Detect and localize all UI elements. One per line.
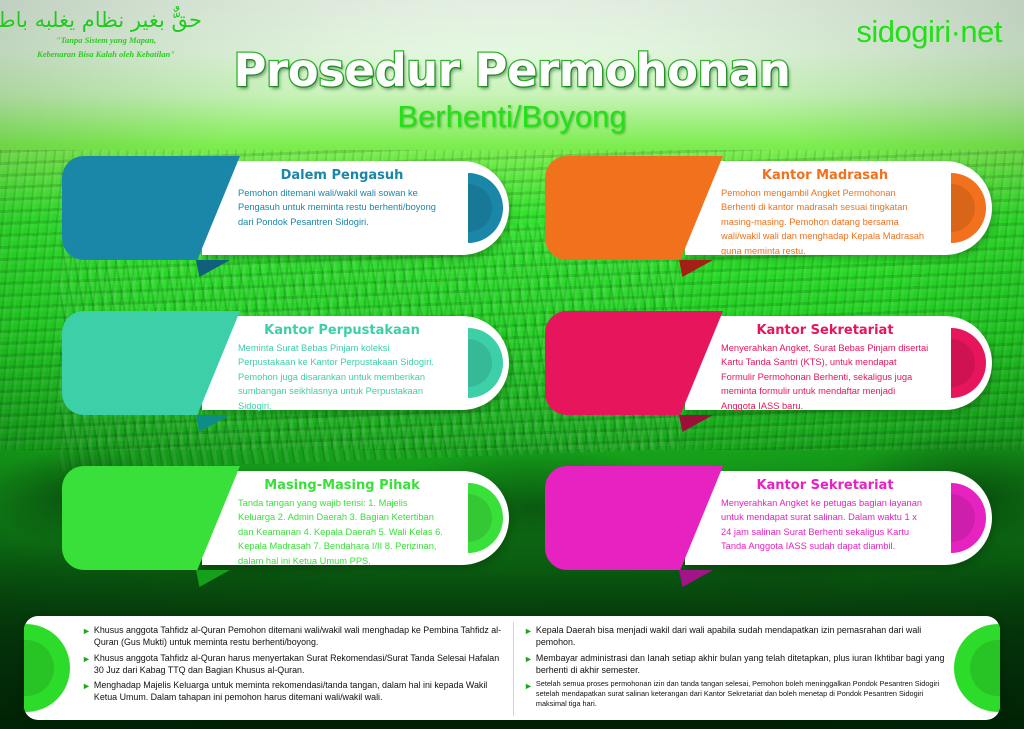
footer-notes-panel: ►Khusus anggota Tahfidz al-Quran Pemohon… [24,616,1000,720]
arrow-bullet-icon: ► [524,625,533,637]
footer-note-text: Khusus anggota Tahfidz al-Quran Pemohon … [94,624,505,649]
footer-notes-right-column: ►Kepala Daerah bisa menjadi wakil dari w… [513,622,954,716]
step-card-text-wrap: Masing-Masing PihakTanda tangan yang waj… [238,479,446,568]
arrow-bullet-icon: ► [524,653,533,665]
step-card-body: Kantor SekretariatMenyerahkan Angket, Su… [685,316,992,410]
page-subtitle: Berhenti/Boyong [0,99,1024,135]
footer-left-disc-icon [24,624,70,712]
step-card-text-wrap: Dalem PengasuhPemohon ditemani wali/waki… [238,169,446,229]
step-card-body: Kantor SekretariatMenyerahkan Angket ke … [685,471,992,565]
footer-note-text: Khusus anggota Tahfidz al-Quran harus me… [94,652,505,677]
step-card-body: Kantor PerpustakaanMeminta Surat Bebas P… [202,316,509,410]
infographic-poster: حقٌّ بغير نظام يغلبه باطل بنظام "Tanpa S… [0,0,1024,729]
step-card-body: Masing-Masing PihakTanda tangan yang waj… [202,471,509,565]
step-card-05: Masing-Masing PihakTanda tangan yang waj… [62,466,509,570]
step-card-text-wrap: Kantor PerpustakaanMeminta Surat Bebas P… [238,324,446,413]
step-card-body: Dalem PengasuhPemohon ditemani wali/waki… [202,161,509,255]
footer-note-text: Setelah semua proses permohonan izin dan… [536,679,946,709]
arrow-bullet-icon: ► [82,680,91,692]
title-block: Prosedur Permohonan Berhenti/Boyong [0,44,1024,135]
page-title: Prosedur Permohonan [0,44,1024,97]
step-card-description: Pemohon ditemani wali/wakil wali sowan k… [238,186,446,229]
step-card-heading: Dalem Pengasuh [238,169,446,184]
footer-note-text: Menghadap Majelis Keluarga untuk meminta… [94,679,505,704]
step-card-description: Tanda tangan yang wajib terisi: 1. Majel… [238,496,446,568]
step-card-heading: Kantor Sekretariat [721,324,929,339]
arrow-bullet-icon: ► [82,653,91,665]
step-card-02: Kantor MadrasahPemohon mengambil Angket … [545,156,992,260]
step-card-text-wrap: Kantor SekretariatMenyerahkan Angket ke … [721,479,929,554]
step-card-06: Kantor SekretariatMenyerahkan Angket ke … [545,466,992,570]
footer-note-text: Membayar administrasi dan Ianah setiap a… [536,652,946,677]
footer-note-text: Kepala Daerah bisa menjadi wakil dari wa… [536,624,946,649]
step-card-half-disc-icon [951,483,986,553]
footer-note-item: ►Khusus anggota Tahfidz al-Quran harus m… [82,652,505,677]
footer-note-item: ►Kepala Daerah bisa menjadi wakil dari w… [524,624,946,649]
step-card-description: Pemohon mengambil Angket Permohonan Berh… [721,186,929,258]
step-card-text-wrap: Kantor SekretariatMenyerahkan Angket, Su… [721,324,929,413]
arrow-bullet-icon: ► [82,625,91,637]
step-card-description: Meminta Surat Bebas Pinjam koleksi Perpu… [238,341,446,413]
step-card-body: Kantor MadrasahPemohon mengambil Angket … [685,161,992,255]
step-card-text-wrap: Kantor MadrasahPemohon mengambil Angket … [721,169,929,258]
step-card-half-disc-icon [468,483,503,553]
footer-columns: ►Khusus anggota Tahfidz al-Quran Pemohon… [72,622,954,716]
step-card-heading: Kantor Perpustakaan [238,324,446,339]
step-card-04: Kantor SekretariatMenyerahkan Angket, Su… [545,311,992,415]
step-card-heading: Kantor Madrasah [721,169,929,184]
footer-note-item: ►Membayar administrasi dan Ianah setiap … [524,652,946,677]
step-card-heading: Masing-Masing Pihak [238,479,446,494]
step-card-heading: Kantor Sekretariat [721,479,929,494]
step-card-half-disc-icon [468,328,503,398]
step-card-half-disc-icon [951,173,986,243]
step-card-01: Dalem PengasuhPemohon ditemani wali/waki… [62,156,509,260]
footer-notes-left-column: ►Khusus anggota Tahfidz al-Quran Pemohon… [72,622,513,716]
step-card-description: Menyerahkan Angket, Surat Bebas Pinjam d… [721,341,929,413]
step-card-03: Kantor PerpustakaanMeminta Surat Bebas P… [62,311,509,415]
footer-note-item: ►Khusus anggota Tahfidz al-Quran Pemohon… [82,624,505,649]
footer-note-item: ►Setelah semua proses permohonan izin da… [524,679,946,709]
footer-right-disc-icon [954,624,1000,712]
step-card-half-disc-icon [951,328,986,398]
step-card-description: Menyerahkan Angket ke petugas bagian lay… [721,496,929,554]
arrow-bullet-icon: ► [524,680,533,692]
footer-note-item: ►Menghadap Majelis Keluarga untuk memint… [82,679,505,704]
step-card-half-disc-icon [468,173,503,243]
